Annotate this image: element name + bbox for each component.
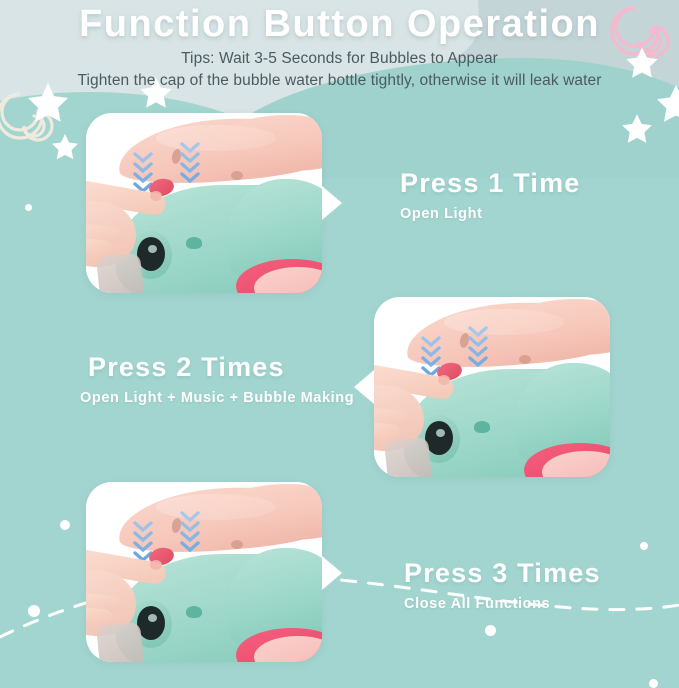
arrow-left-icon [354,370,374,404]
step-1-description: Open Light [400,206,483,222]
step-3-heading: Press 3 Times [404,558,601,589]
step-3-description: Close All Functions [404,596,550,612]
hand-pressing-button-photo [86,482,322,662]
hand-pressing-button-photo [86,113,322,293]
white-dot-icon [60,520,70,530]
white-dot-icon [640,542,648,550]
white-star-icon [50,132,80,162]
step-1-heading: Press 1 Time [400,168,581,199]
tip-line-1: Tips: Wait 3-5 Seconds for Bubbles to Ap… [0,50,679,68]
step-2-image-card[interactable] [374,297,610,477]
step-2-heading: Press 2 Times [88,352,285,383]
step-2-description: Open Light + Music + Bubble Making [80,390,354,406]
arrow-right-icon [322,556,342,590]
white-dot-icon [25,204,32,211]
white-dot-icon [649,679,658,688]
tip-line-2: Tighten the cap of the bubble water bott… [0,72,679,90]
page-title: Function Button Operation [0,0,679,48]
arrow-right-icon [322,186,342,220]
step-1-image-card[interactable] [86,113,322,293]
step-3-image-card[interactable] [86,482,322,662]
hand-pressing-button-photo [374,297,610,477]
white-star-icon [620,112,654,146]
